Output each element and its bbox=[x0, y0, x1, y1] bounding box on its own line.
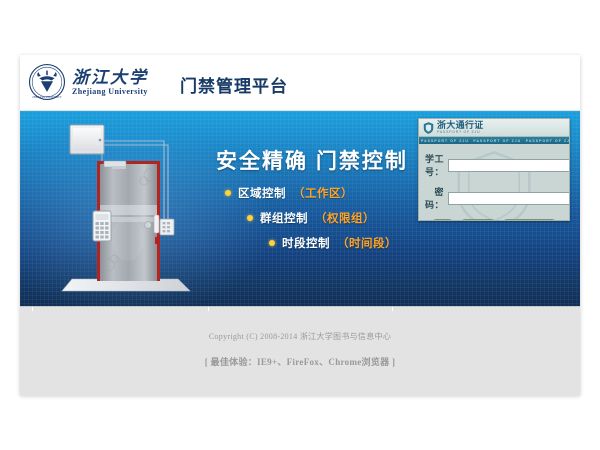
login-panel-header: 浙大通行证 PASSPORT OF ZJU bbox=[419, 119, 569, 137]
login-panel: 浙大通行证 PASSPORT OF ZJU PASSPORT OF ZJU PA… bbox=[418, 118, 570, 221]
login-notice-button[interactable]: 登录须知 bbox=[459, 219, 497, 221]
bullet-dot-icon bbox=[247, 215, 253, 221]
password-row: 密 码： bbox=[425, 185, 563, 211]
login-form: 学工号： 密 码： bbox=[419, 144, 569, 211]
page-title: 门禁管理平台 bbox=[180, 72, 288, 97]
feature-label: 时段控制 bbox=[282, 235, 330, 251]
footer-tick bbox=[32, 307, 33, 311]
student-id-label: 学工号： bbox=[425, 152, 448, 178]
student-id-input[interactable] bbox=[448, 159, 570, 172]
browser-compatibility-text: [ 最佳体验：IE9+、FireFox、Chrome浏览器 ] bbox=[20, 355, 580, 368]
feature-item-timeslot: 时段控制 （时间段） bbox=[269, 235, 397, 251]
password-input[interactable] bbox=[448, 192, 570, 205]
feature-item-area: 区域控制 （工作区） bbox=[225, 185, 397, 201]
student-id-row: 学工号： bbox=[425, 152, 563, 178]
feature-item-group: 群组控制 （权限组） bbox=[247, 210, 397, 226]
footer-tick bbox=[208, 307, 209, 311]
hero-banner: 安全精确 门禁控制 区域控制 （工作区） 群组控制 （权限组） 时段控制 （时间… bbox=[20, 111, 580, 306]
feature-paren: （工作区） bbox=[293, 185, 353, 201]
copyright-text: Copyright (C) 2008-2014 浙江大学图书与信息中心 bbox=[20, 331, 580, 342]
campus-card-login-button[interactable]: 校园卡密码登录 bbox=[501, 219, 559, 221]
electric-lock bbox=[155, 237, 160, 244]
feature-paren: （权限组） bbox=[315, 210, 375, 226]
logo-en-text: Zhejiang University bbox=[72, 88, 148, 96]
site-footer: Copyright (C) 2008-2014 浙江大学图书与信息中心 [ 最佳… bbox=[20, 306, 580, 396]
controller-box bbox=[70, 125, 104, 154]
password-label: 密 码： bbox=[425, 185, 448, 211]
feature-list: 区域控制 （工作区） 群组控制 （权限组） 时段控制 （时间段） bbox=[225, 185, 397, 260]
svg-text:ZHEJIANG UNIVERSITY: ZHEJIANG UNIVERSITY bbox=[32, 96, 62, 99]
logo-cn-text: 浙江大学 bbox=[72, 69, 148, 86]
logo-wordmark: 浙江大学 Zhejiang University bbox=[72, 69, 148, 96]
site-header: ZHEJIANG UNIVERSITY 浙江大学 Zhejiang Univer… bbox=[20, 55, 580, 111]
keypad-reader bbox=[93, 211, 111, 241]
card-reader bbox=[160, 219, 174, 235]
shield-icon bbox=[423, 122, 434, 134]
feature-paren: （时间段） bbox=[337, 235, 397, 251]
bullet-dot-icon bbox=[225, 190, 231, 196]
footer-tick bbox=[392, 307, 393, 311]
login-button-group: 登录 登录须知 校园卡密码登录 bbox=[419, 218, 569, 221]
access-control-door-illustration bbox=[56, 119, 206, 304]
page-card: ZHEJIANG UNIVERSITY 浙江大学 Zhejiang Univer… bbox=[20, 55, 580, 395]
passport-repeat-strip: PASSPORT OF ZJU PASSPORT OF ZJU PASSPORT… bbox=[419, 137, 569, 144]
zju-seal-icon: ZHEJIANG UNIVERSITY bbox=[28, 63, 66, 101]
passport-title-block: 浙大通行证 PASSPORT OF ZJU bbox=[437, 121, 484, 135]
bullet-dot-icon bbox=[269, 240, 275, 246]
university-logo[interactable]: ZHEJIANG UNIVERSITY 浙江大学 Zhejiang Univer… bbox=[28, 63, 148, 101]
feature-label: 群组控制 bbox=[260, 210, 308, 226]
login-button[interactable]: 登录 bbox=[430, 219, 455, 221]
passport-title-cn: 浙大通行证 bbox=[437, 121, 484, 130]
hero-headline: 安全精确 门禁控制 bbox=[216, 145, 408, 175]
passport-title-en: PASSPORT OF ZJU bbox=[437, 131, 484, 135]
feature-label: 区域控制 bbox=[238, 185, 286, 201]
